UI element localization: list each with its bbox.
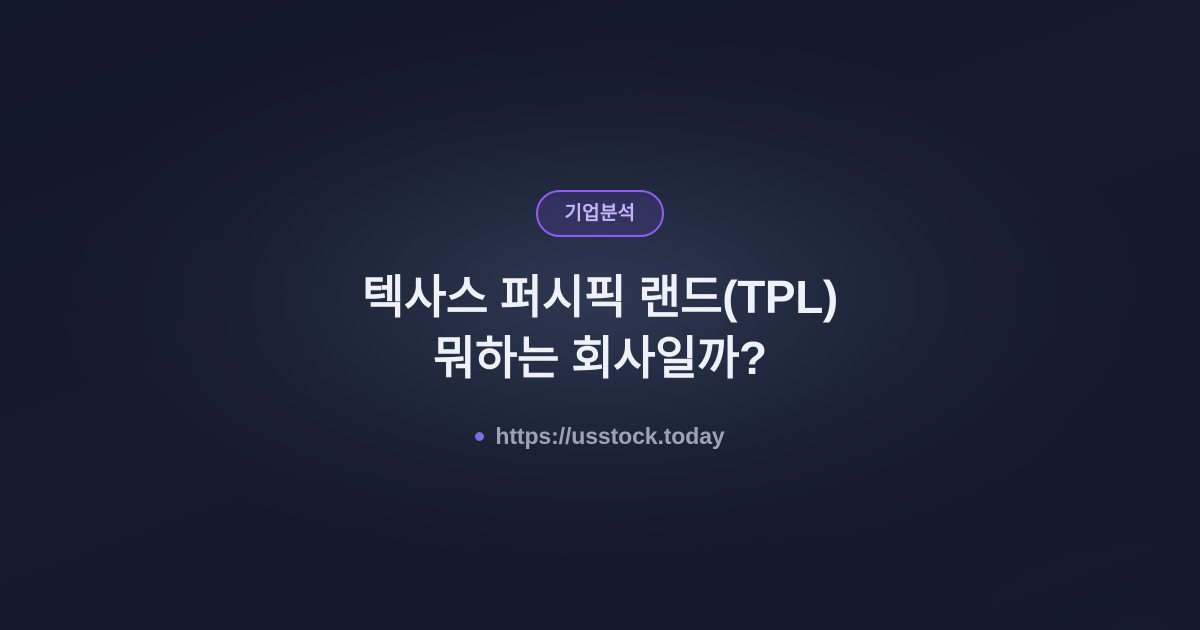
page-title-line-1: 텍사스 퍼시픽 랜드(TPL) — [40, 267, 1160, 328]
card-content: 기업분석 텍사스 퍼시픽 랜드(TPL) 뭐하는 회사일까? https://u… — [0, 0, 1200, 448]
category-badge-label: 기업분석 — [565, 204, 636, 223]
page-title: 텍사스 퍼시픽 랜드(TPL) 뭐하는 회사일까? — [0, 267, 1200, 389]
bullet-dot-icon — [475, 432, 484, 441]
category-badge: 기업분석 — [536, 190, 665, 237]
site-url-text: https://usstock.today — [495, 425, 724, 448]
page-title-line-2: 뭐하는 회사일까? — [40, 328, 1160, 389]
site-url: https://usstock.today — [475, 425, 724, 448]
og-share-card: 기업분석 텍사스 퍼시픽 랜드(TPL) 뭐하는 회사일까? https://u… — [0, 0, 1200, 630]
